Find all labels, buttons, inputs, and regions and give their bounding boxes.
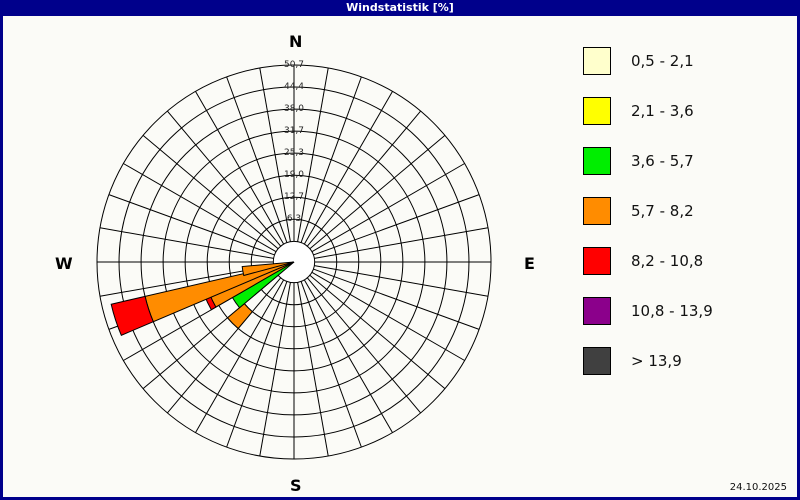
compass-label-west: W	[55, 254, 73, 273]
legend-color-swatch	[583, 97, 611, 125]
compass-label-south: S	[290, 476, 302, 495]
page-title: Windstatistik [%]	[346, 1, 454, 14]
radial-tick-label: 19,0	[274, 170, 314, 180]
legend-item: 8,2 - 10,8	[583, 236, 793, 286]
petal-group	[111, 262, 294, 335]
legend-item-label: 5,7 - 8,2	[631, 202, 694, 220]
compass-label-north: N	[289, 32, 302, 51]
speed-bin-legend: 0,5 - 2,12,1 - 3,63,6 - 5,75,7 - 8,28,2 …	[583, 36, 793, 386]
legend-color-swatch	[583, 197, 611, 225]
legend-item-label: 0,5 - 2,1	[631, 52, 694, 70]
radial-tick-label: 12,7	[274, 192, 314, 202]
radial-tick-label: 44,4	[274, 82, 314, 92]
legend-item-label: 2,1 - 3,6	[631, 102, 694, 120]
chart-canvas: N S W E 6,312,719,025,331,738,044,450,7 …	[3, 16, 797, 497]
legend-color-swatch	[583, 147, 611, 175]
legend-color-swatch	[583, 47, 611, 75]
legend-item-label: 3,6 - 5,7	[631, 152, 694, 170]
wind-rose-petal-segment	[111, 296, 153, 335]
legend-item-label: 10,8 - 13,9	[631, 302, 713, 320]
radial-tick-label: 38,0	[274, 104, 314, 114]
legend-color-swatch	[583, 247, 611, 275]
legend-item: > 13,9	[583, 336, 793, 386]
legend-color-swatch	[583, 297, 611, 325]
legend-item: 2,1 - 3,6	[583, 86, 793, 136]
legend-item-label: 8,2 - 10,8	[631, 252, 703, 270]
legend-item: 0,5 - 2,1	[583, 36, 793, 86]
radial-tick-label: 6,3	[274, 214, 314, 224]
radial-tick-label: 25,3	[274, 148, 314, 158]
wind-rose-window: Windstatistik [%] N S W E 6,312,719,025,…	[0, 0, 800, 500]
date-stamp: 24.10.2025	[730, 482, 787, 493]
legend-item: 10,8 - 13,9	[583, 286, 793, 336]
legend-item: 3,6 - 5,7	[583, 136, 793, 186]
radial-tick-label: 50,7	[274, 60, 314, 70]
legend-item: 5,7 - 8,2	[583, 186, 793, 236]
wind-rose-plot: N S W E 6,312,719,025,331,738,044,450,7	[3, 16, 563, 497]
legend-color-swatch	[583, 347, 611, 375]
legend-item-label: > 13,9	[631, 352, 682, 370]
window-title-bar: Windstatistik [%]	[0, 0, 800, 16]
radial-tick-label: 31,7	[274, 126, 314, 136]
compass-label-east: E	[524, 254, 535, 273]
wind-rose-petal-segment	[145, 262, 294, 322]
